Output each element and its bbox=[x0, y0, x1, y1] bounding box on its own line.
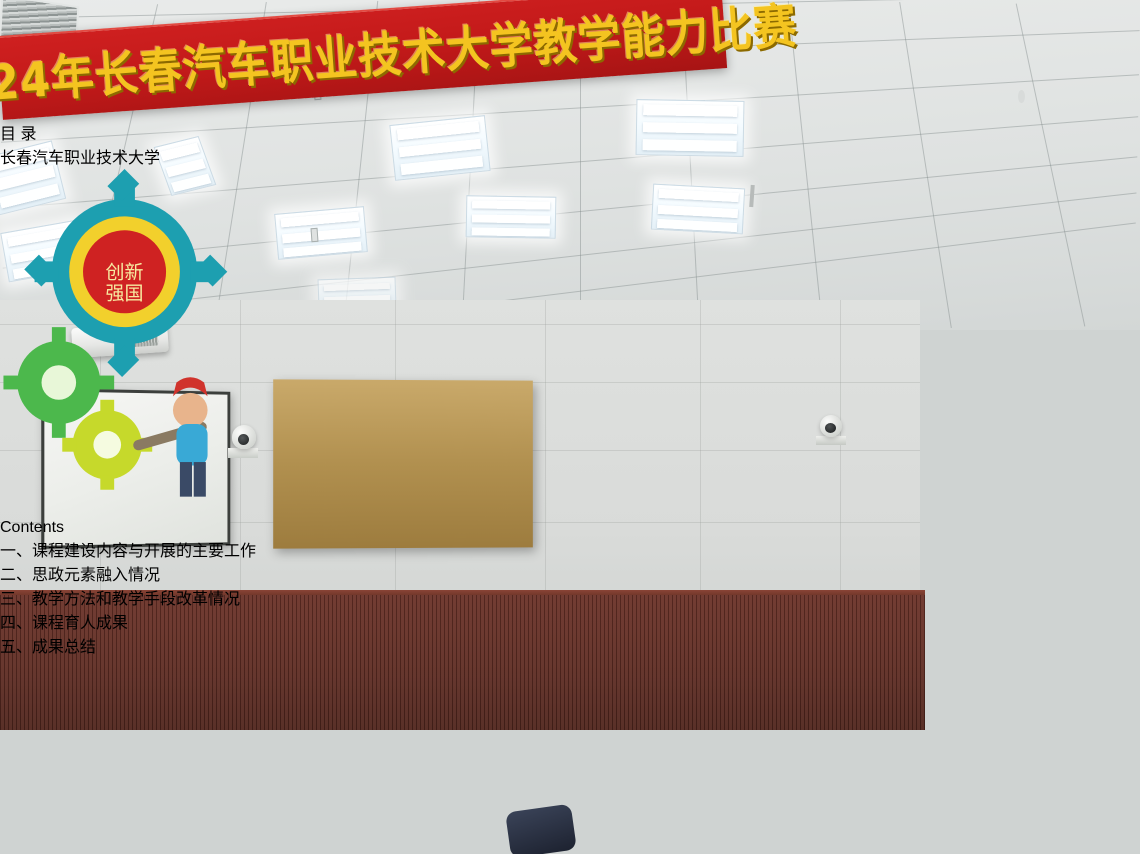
ceiling-light-panel bbox=[651, 184, 745, 235]
loose-papers bbox=[0, 556, 61, 585]
curtain-rod-bracket bbox=[1018, 90, 1025, 103]
ceiling-grid-line bbox=[899, 2, 952, 328]
laptop-right-screen[interactable] bbox=[730, 663, 821, 664]
blackboard bbox=[280, 386, 526, 541]
slide-item-text-5: 五、成果总结 bbox=[0, 639, 96, 656]
ptz-camera-icon bbox=[820, 415, 842, 437]
slide-list-item[interactable]: 五、成果总结 bbox=[0, 633, 256, 657]
svg-text:创新: 创新 bbox=[106, 262, 144, 284]
ceiling-light-panel bbox=[389, 115, 490, 181]
camera-bracket bbox=[816, 436, 846, 445]
handbag bbox=[505, 804, 577, 854]
laptop-center[interactable] bbox=[452, 670, 556, 738]
ceiling-light-panel bbox=[274, 206, 368, 260]
ceiling-sensor-icon bbox=[311, 228, 319, 242]
radiator-grille-icon bbox=[0, 238, 64, 364]
ceiling-light-panel bbox=[466, 195, 557, 239]
ceiling-light-panel bbox=[636, 99, 745, 157]
loose-papers bbox=[0, 531, 57, 560]
blackboard-frame bbox=[273, 379, 533, 548]
laptop-right[interactable] bbox=[730, 663, 821, 728]
ceiling-hanger-rod bbox=[749, 185, 755, 207]
loose-papers bbox=[0, 117, 97, 166]
radiator-grille-icon bbox=[0, 364, 70, 504]
ceiling-grid-line bbox=[1016, 4, 1086, 327]
worker-figure-icon bbox=[132, 377, 208, 496]
laptop-left[interactable] bbox=[199, 663, 295, 737]
svg-text:强国: 强国 bbox=[106, 282, 144, 304]
classroom-photo: Three seated judges with laptops observe… bbox=[0, 0, 1140, 854]
